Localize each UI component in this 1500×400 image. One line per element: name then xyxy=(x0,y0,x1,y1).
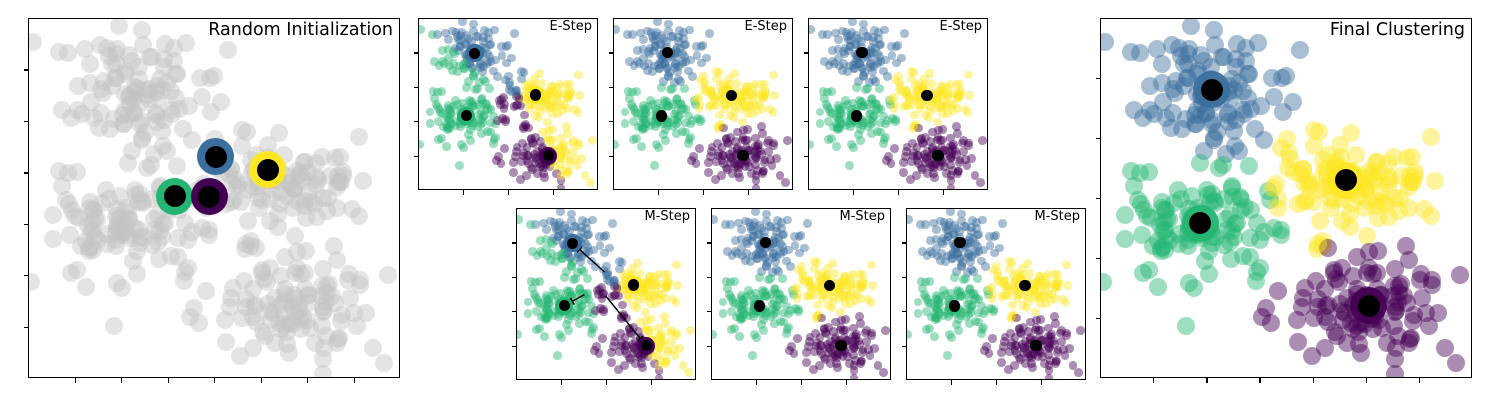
panel-frame-m-step-3 xyxy=(906,208,1086,380)
y-axis-tick xyxy=(707,242,712,243)
panel-e-step-2: E-Step xyxy=(613,18,793,190)
panel-frame-m-step-2 xyxy=(711,208,891,380)
panel-e-step-3: E-Step xyxy=(808,18,988,190)
y-axis-tick xyxy=(1096,138,1101,139)
y-axis-tick xyxy=(414,121,419,122)
y-axis-tick xyxy=(414,52,419,53)
x-axis-tick xyxy=(756,380,757,385)
y-axis-tick xyxy=(1096,78,1101,79)
panel-frame-m-step-1 xyxy=(516,208,696,380)
x-axis-tick xyxy=(996,380,997,385)
y-axis-tick xyxy=(512,242,517,243)
y-axis-tick xyxy=(24,121,29,122)
panel-frame-e-step-2 xyxy=(613,18,793,190)
kmeans-em-figure: Random InitializationE-StepE-StepE-StepM… xyxy=(0,0,1500,400)
y-axis-tick xyxy=(707,277,712,278)
x-axis-tick xyxy=(951,380,952,385)
x-axis-tick xyxy=(606,380,607,385)
y-axis-tick xyxy=(24,172,29,173)
y-axis-tick xyxy=(24,69,29,70)
x-axis-tick xyxy=(561,380,562,385)
x-axis-tick xyxy=(853,190,854,195)
y-axis-tick xyxy=(24,275,29,276)
x-axis-tick xyxy=(801,380,802,385)
x-axis-tick xyxy=(508,190,509,195)
x-axis-tick xyxy=(354,378,355,383)
panel-title-random-init: Random Initialization xyxy=(208,21,393,40)
y-axis-tick xyxy=(707,311,712,312)
y-axis-tick xyxy=(414,156,419,157)
y-axis-tick xyxy=(1096,258,1101,259)
panel-frame-final-clustering xyxy=(1100,18,1472,378)
panel-e-step-1: E-Step xyxy=(418,18,598,190)
x-axis-tick xyxy=(168,378,169,383)
x-axis-tick xyxy=(748,190,749,195)
x-axis-tick xyxy=(1041,380,1042,385)
x-axis-tick xyxy=(898,190,899,195)
x-axis-tick xyxy=(121,378,122,383)
panel-m-step-2: M-Step xyxy=(711,208,891,380)
panel-title-e-step-1: E-Step xyxy=(549,20,592,34)
x-axis-tick xyxy=(75,378,76,383)
x-axis-tick xyxy=(1153,378,1154,383)
x-axis-tick xyxy=(651,380,652,385)
x-axis-tick xyxy=(1366,378,1367,383)
x-axis-tick xyxy=(1259,378,1260,383)
x-axis-tick xyxy=(463,190,464,195)
panel-title-m-step-1: M-Step xyxy=(644,210,690,224)
y-axis-tick xyxy=(902,311,907,312)
panel-title-final-clustering: Final Clustering xyxy=(1330,21,1465,40)
panel-frame-e-step-3 xyxy=(808,18,988,190)
panel-m-step-1: M-Step xyxy=(516,208,696,380)
x-axis-tick xyxy=(1419,378,1420,383)
x-axis-tick xyxy=(846,380,847,385)
x-axis-tick xyxy=(943,190,944,195)
panel-title-e-step-2: E-Step xyxy=(744,20,787,34)
y-axis-tick xyxy=(609,52,614,53)
panel-final-clustering: Final Clustering xyxy=(1100,18,1472,378)
panel-title-m-step-2: M-Step xyxy=(839,210,885,224)
x-axis-tick xyxy=(261,378,262,383)
y-axis-tick xyxy=(1096,318,1101,319)
y-axis-tick xyxy=(902,277,907,278)
panel-title-e-step-3: E-Step xyxy=(939,20,982,34)
y-axis-tick xyxy=(804,52,809,53)
y-axis-tick xyxy=(804,121,809,122)
y-axis-tick xyxy=(609,121,614,122)
y-axis-tick xyxy=(804,87,809,88)
y-axis-tick xyxy=(414,87,419,88)
x-axis-tick xyxy=(658,190,659,195)
x-axis-tick xyxy=(553,190,554,195)
panel-frame-random-init xyxy=(28,18,400,378)
y-axis-tick xyxy=(902,242,907,243)
y-axis-tick xyxy=(707,346,712,347)
y-axis-tick xyxy=(609,156,614,157)
panel-frame-e-step-1 xyxy=(418,18,598,190)
panel-m-step-3: M-Step xyxy=(906,208,1086,380)
y-axis-tick xyxy=(902,346,907,347)
x-axis-tick xyxy=(214,378,215,383)
y-axis-tick xyxy=(512,277,517,278)
x-axis-tick xyxy=(1313,378,1314,383)
x-axis-tick xyxy=(307,378,308,383)
y-axis-tick xyxy=(24,327,29,328)
panel-title-m-step-3: M-Step xyxy=(1034,210,1080,224)
y-axis-tick xyxy=(609,87,614,88)
y-axis-tick xyxy=(512,311,517,312)
x-axis-tick xyxy=(1206,378,1207,383)
panel-random-init: Random Initialization xyxy=(28,18,400,378)
y-axis-tick xyxy=(1096,198,1101,199)
y-axis-tick xyxy=(512,346,517,347)
y-axis-tick xyxy=(804,156,809,157)
y-axis-tick xyxy=(24,224,29,225)
x-axis-tick xyxy=(703,190,704,195)
